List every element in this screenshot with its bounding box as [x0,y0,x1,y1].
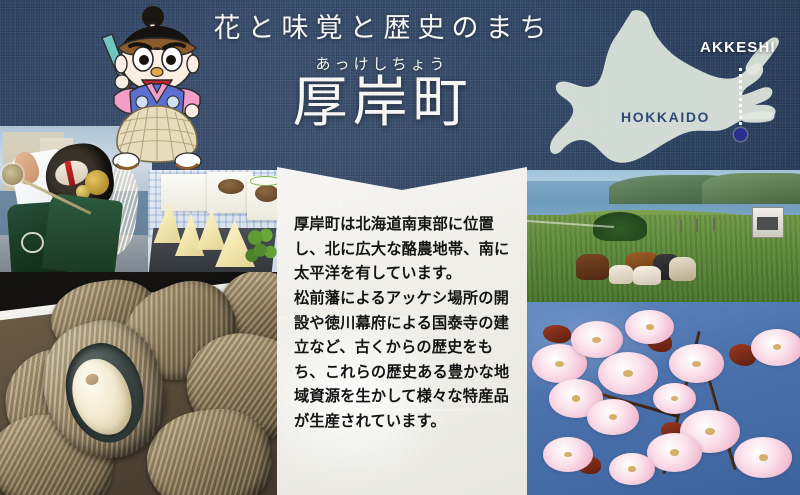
description-text: 厚岸町は北海道南東部に位置し、北に広大な酪農地帯、南に太平洋を有しています。 松… [294,213,515,435]
cherry-blossom [598,352,658,394]
mascot-hand-left [115,75,129,89]
mascot-pupil-right [166,55,176,65]
cherry-blossom [653,383,697,414]
package-green-accent [250,176,281,186]
mascot-crest-right [167,96,179,108]
cherry-blossom [751,329,800,366]
cherry-blossom [669,344,724,383]
hokkaido-map: AKKESHI HOKKAIDO [548,6,800,186]
horse [576,254,609,279]
description-paragraph-1: 厚岸町は北海道南東部に位置し、北に広大な酪農地帯、南に太平洋を有しています。 [294,213,515,287]
map-pin-akkeshi [734,128,747,141]
mascot-crest-left [136,96,148,108]
meadow-signboard [752,207,784,238]
fence-post [696,219,698,232]
mascot-ear-left [115,55,127,73]
mascot-ear-right [187,55,199,73]
parsley-garnish [245,224,280,269]
description-paragraph-2: 松前藩によるアッケシ場所の開設や徳川幕府による国泰寺の建立など、古くからの歴史を… [294,287,515,435]
festival-staff-bell [2,164,23,185]
cherry-blossom [587,399,639,436]
mascot-nose [151,68,163,77]
cherry-bud [543,325,570,342]
description-panel: 厚岸町は北海道南東部に位置し、北に広大な酪農地帯、南に太平洋を有しています。 松… [277,167,527,495]
cherry-blossom [609,453,655,486]
mascot-pupil-left [139,55,149,65]
foal [633,266,660,284]
cherry-blossom [543,437,592,472]
mascot-character [96,4,218,174]
robe-emblem [21,232,43,254]
foal [609,265,634,283]
map-label-hokkaido: HOKKAIDO [621,109,710,125]
oyster-meat-detail [85,373,100,387]
festival-green-robe-2 [41,192,123,273]
mascot-hand-right [185,104,199,118]
photo-cheese [148,170,282,278]
horse [669,257,696,281]
poster-canvas: AKKESHI HOKKAIDO 花と味覚と歴史のまち あっけしちょう 厚岸町 [0,0,800,495]
map-label-akkeshi: AKKESHI [700,39,776,56]
photo-horses-coastal-meadow [527,170,800,302]
package-photo-oval [218,179,245,194]
fence-post [680,220,682,233]
fence-post [713,218,715,231]
oyster-meat [65,352,140,442]
oyster-shell-cavity [55,335,155,452]
photo-oysters [0,272,282,495]
photo-cherry-blossoms [527,302,800,495]
cherry-blossom [571,321,623,358]
cherry-blossom [734,437,791,478]
map-leader-dotted-line [739,68,742,130]
cherry-blossom [647,433,702,472]
